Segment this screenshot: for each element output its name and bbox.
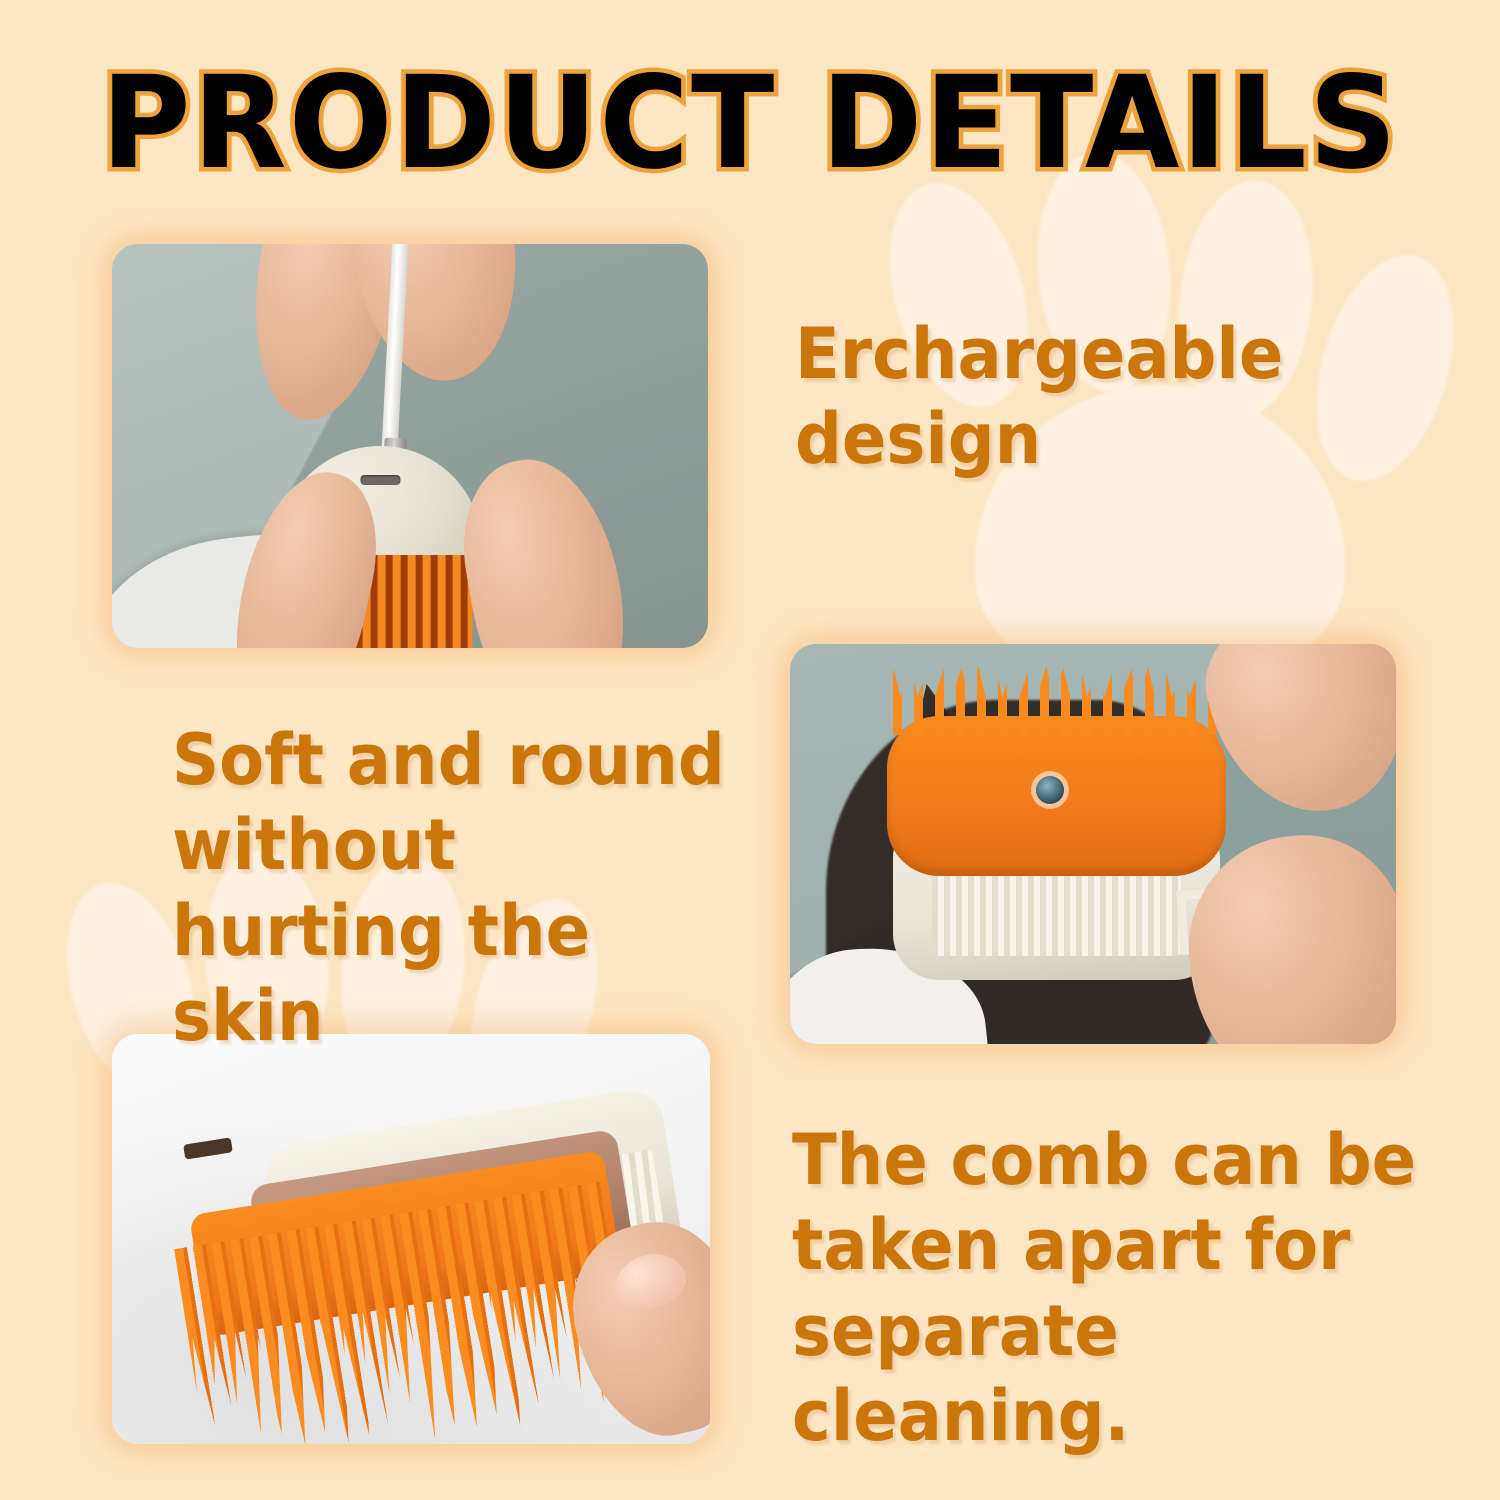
vent-slot — [183, 1137, 233, 1159]
steam-nozzle-hole — [1036, 776, 1064, 804]
brush-grip-ribs — [932, 869, 1181, 956]
photo-scene-bathroom — [112, 244, 708, 648]
orange-bristle-pad — [887, 716, 1226, 876]
photo-scene-teal-wall — [790, 644, 1396, 1044]
product-photo-charging — [112, 244, 708, 648]
charging-port-slot — [360, 475, 401, 485]
caption-soft-and-round: Soft and round without hurting the skin — [172, 718, 734, 1060]
product-details-infographic: PRODUCT DETAILS — [0, 0, 1500, 1500]
product-photo-with-cat — [790, 644, 1396, 1044]
caption-rechargeable-design: Erchargeable design — [795, 312, 1377, 483]
caption-comb-taken-apart: The comb can be taken apart for separate… — [792, 1118, 1437, 1460]
product-photo-detached-comb — [112, 1034, 710, 1444]
bristle-tips — [887, 662, 1226, 736]
photo-scene-white-surface — [112, 1034, 710, 1444]
hand-fingers-upper-right — [343, 244, 530, 390]
hand-lower-right — [448, 447, 640, 648]
page-title: PRODUCT DETAILS — [0, 60, 1500, 188]
